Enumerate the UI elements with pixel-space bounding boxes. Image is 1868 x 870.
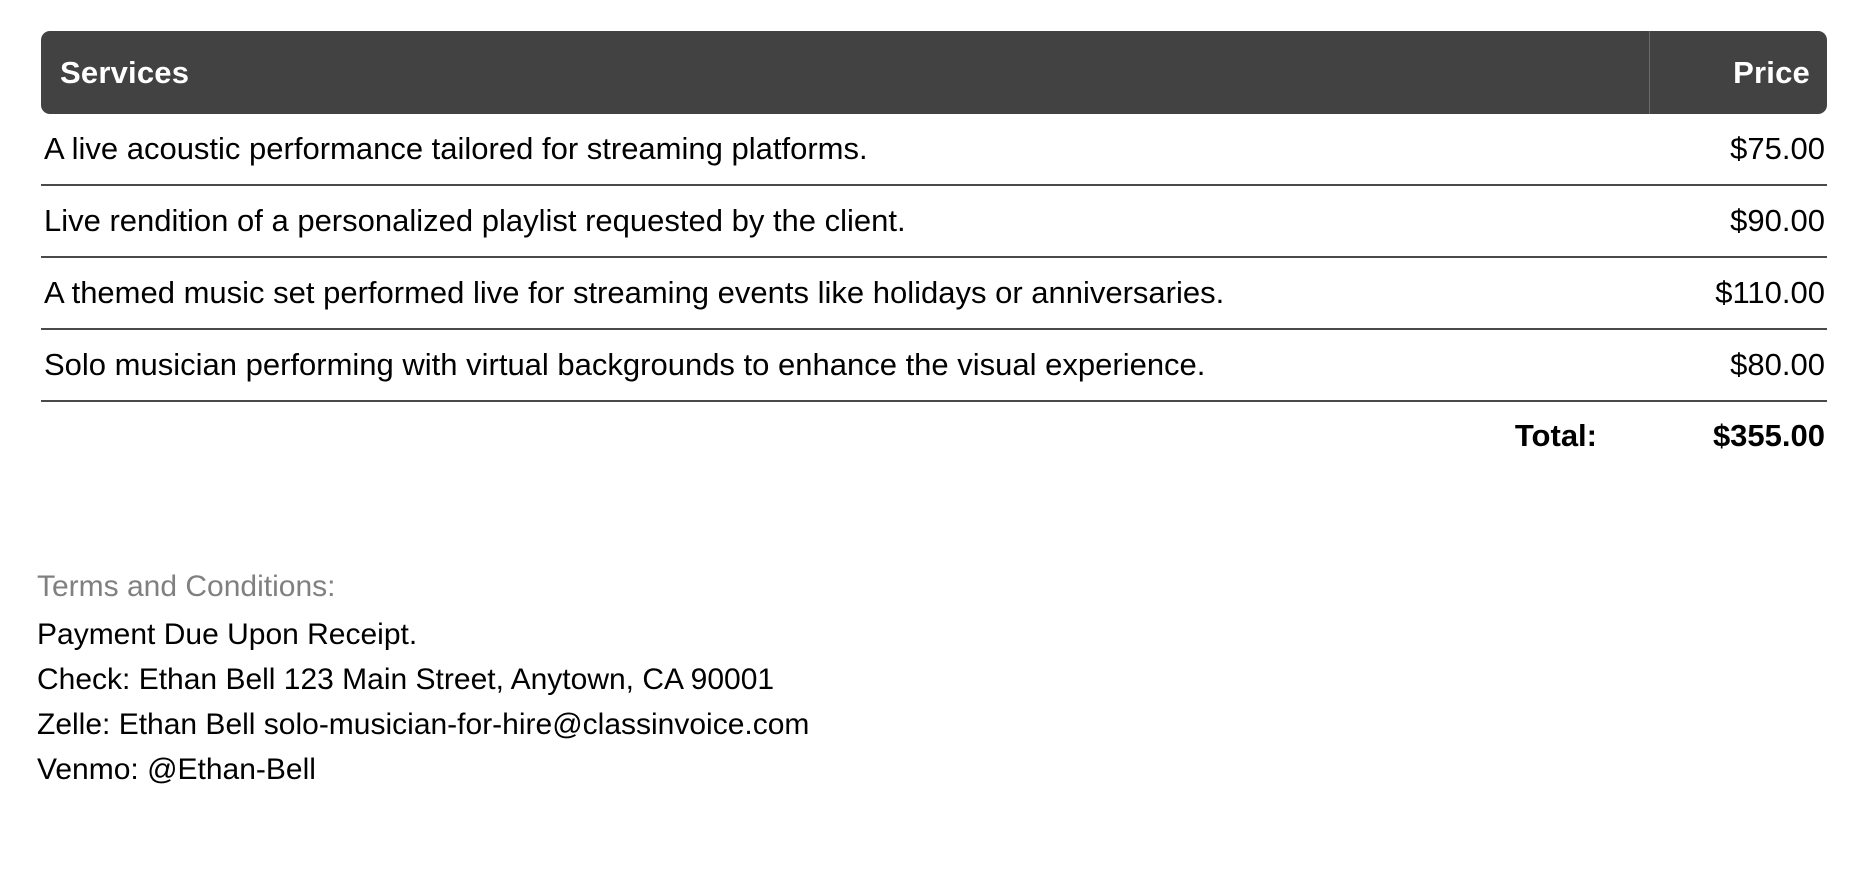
services-price-table: Services Price A live acoustic performan… [41,31,1827,470]
total-amount: $355.00 [1685,418,1827,454]
terms-and-conditions-section: Terms and Conditions: Payment Due Upon R… [37,572,1827,785]
terms-line-check: Check: Ethan Bell 123 Main Street, Anyto… [37,665,1827,695]
table-row: A live acoustic performance tailored for… [41,114,1827,186]
total-label: Total: [1515,418,1597,454]
service-price: $80.00 [1595,347,1827,383]
service-price: $90.00 [1595,203,1827,239]
service-price: $110.00 [1595,275,1827,311]
service-description: Live rendition of a personalized playlis… [41,203,1595,239]
terms-line-payment-due: Payment Due Upon Receipt. [37,620,1827,650]
table-row: Live rendition of a personalized playlis… [41,186,1827,258]
total-row: Total: $355.00 [41,402,1827,470]
terms-line-zelle: Zelle: Ethan Bell solo-musician-for-hire… [37,710,1827,740]
terms-heading: Terms and Conditions: [37,572,1827,602]
service-description: Solo musician performing with virtual ba… [41,347,1595,383]
table-header-row: Services Price [41,31,1827,114]
service-description: A themed music set performed live for st… [41,275,1595,311]
service-price: $75.00 [1595,131,1827,167]
service-description: A live acoustic performance tailored for… [41,131,1595,167]
column-header-services: Services [41,57,1649,88]
column-header-price: Price [1650,57,1827,88]
table-row: A themed music set performed live for st… [41,258,1827,330]
invoice-page: Services Price A live acoustic performan… [0,0,1868,870]
terms-line-venmo: Venmo: @Ethan-Bell [37,755,1827,785]
table-row: Solo musician performing with virtual ba… [41,330,1827,402]
